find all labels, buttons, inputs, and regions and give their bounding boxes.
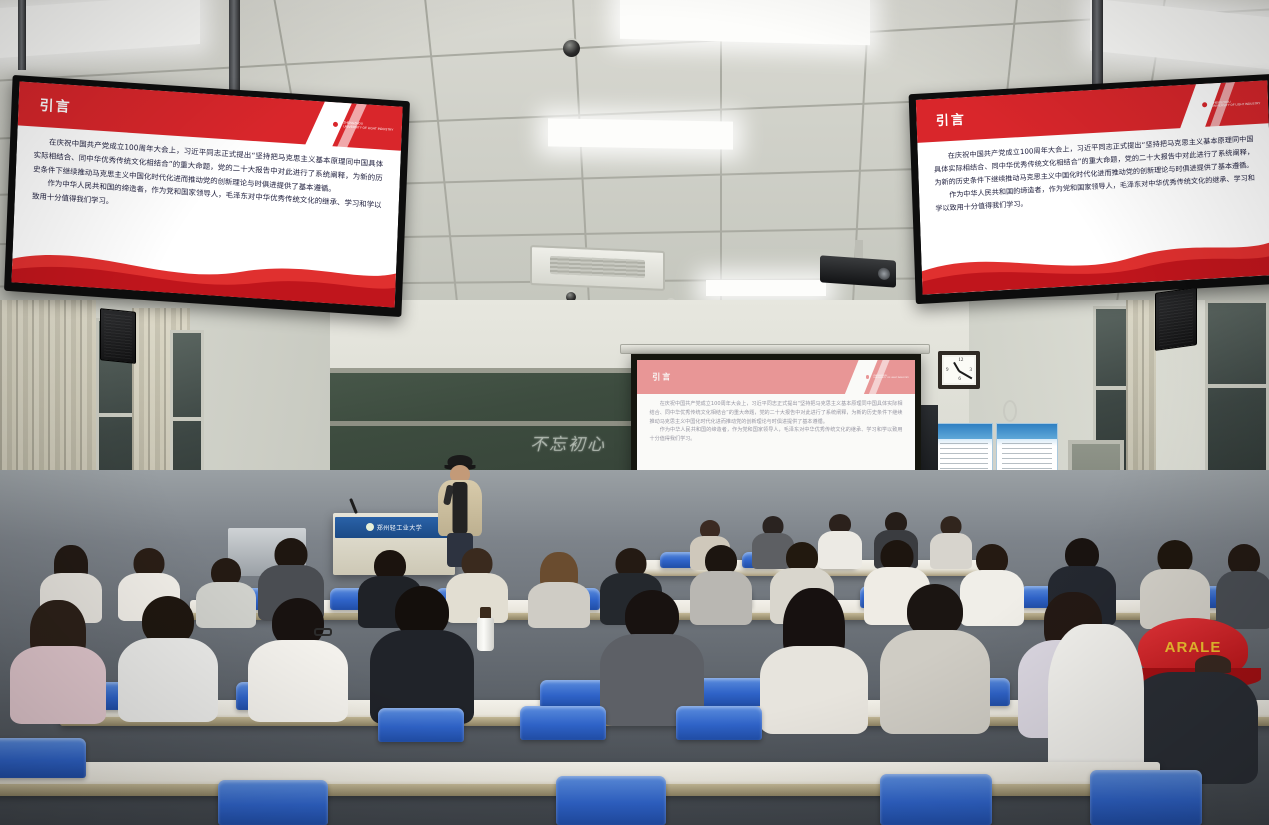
audience-member bbox=[880, 584, 990, 730]
slide-paragraph-1: 在庆祝中国共产党成立100周年大会上，习近平同志正式提出“坚持把马克思主义基本原… bbox=[650, 400, 903, 427]
right-display-panel: 引言 ZHENGZHOU UNIVERSITY OF LIGHT INDUSTR… bbox=[916, 80, 1269, 295]
ceiling-light-panel bbox=[620, 0, 870, 45]
notice-header bbox=[936, 424, 992, 439]
audience-member bbox=[10, 600, 106, 716]
presenter-inner-shirt bbox=[453, 482, 468, 534]
logo-mark-icon bbox=[331, 120, 340, 130]
dome-security-camera bbox=[563, 40, 580, 57]
slide-title: 引言 bbox=[936, 109, 967, 130]
slide-wave-decoration bbox=[921, 224, 1269, 294]
lecture-chair[interactable] bbox=[1090, 770, 1202, 825]
audience-member bbox=[370, 586, 474, 720]
audience-member bbox=[760, 588, 868, 728]
left-slide: 引言 ZHENGZHOU UNIVERSITY OF LIGHT INDUSTR… bbox=[11, 81, 402, 307]
left-wall-display[interactable]: 引言 ZHENGZHOU UNIVERSITY OF LIGHT INDUSTR… bbox=[4, 75, 410, 317]
bottle-cap bbox=[480, 607, 491, 617]
podium-nameplate: 郑州轻工业大学 bbox=[335, 517, 452, 538]
display-mount-pole bbox=[1092, 0, 1103, 90]
notice-header bbox=[997, 424, 1057, 439]
person-torso bbox=[248, 640, 348, 722]
person-torso bbox=[118, 638, 218, 722]
blackboard-chalk-text: 不忘初心 bbox=[530, 430, 606, 455]
logo-line-2: UNIVERSITY OF LIGHT INDUSTRY bbox=[873, 377, 909, 379]
slide-body: 在庆祝中国共产党成立100周年大会上，习近平同志正式提出“坚持把马克思主义基本原… bbox=[933, 132, 1255, 215]
cap-back-gap bbox=[1195, 655, 1231, 673]
university-logo: ZHENGZHOU UNIVERSITY OF LIGHT INDUSTRY bbox=[1200, 98, 1261, 110]
slide-paragraph-2: 作为中华人民共和国的缔造者，作为党和国家领导人，毛泽东对中华优秀传统文化的继承、… bbox=[650, 426, 903, 444]
audience-member-red-cap: ARALE bbox=[1128, 600, 1258, 780]
ceiling-projector bbox=[820, 255, 896, 287]
lecture-chair[interactable] bbox=[0, 738, 86, 778]
logo-line-2: UNIVERSITY OF LIGHT INDUSTRY bbox=[1212, 102, 1261, 108]
logo-mark-icon bbox=[864, 374, 870, 380]
projection-screen-case bbox=[620, 344, 930, 354]
logo-mark-icon bbox=[1200, 100, 1209, 109]
audience-member bbox=[1048, 614, 1144, 782]
slide-title: 引言 bbox=[652, 371, 672, 382]
lecture-chair[interactable] bbox=[880, 774, 992, 825]
wall-hook bbox=[1003, 400, 1017, 422]
lecture-chair[interactable] bbox=[556, 776, 666, 825]
wall-clock: 12 3 6 9 bbox=[938, 351, 980, 389]
person-torso bbox=[880, 630, 990, 734]
university-logo: ZHENGZHOU UNIVERSITY OF LIGHT INDUSTRY bbox=[864, 374, 909, 380]
person-torso bbox=[760, 646, 868, 734]
lecture-chair[interactable] bbox=[676, 706, 762, 740]
right-slide: 引言 ZHENGZHOU UNIVERSITY OF LIGHT INDUSTR… bbox=[916, 80, 1269, 295]
audience-member bbox=[248, 598, 348, 718]
podium-nameplate-text: 郑州轻工业大学 bbox=[377, 523, 423, 532]
slide-body: 在庆祝中国共产党成立100周年大会上，习近平同志正式提出“坚持把马克思主义基本原… bbox=[650, 400, 903, 445]
display-mount-pole bbox=[229, 0, 240, 96]
lecture-chair[interactable] bbox=[520, 706, 606, 740]
university-logo: ZHENGZHOU UNIVERSITY OF LIGHT INDUSTRY bbox=[331, 120, 393, 133]
audience-member bbox=[118, 596, 218, 718]
university-emblem-icon bbox=[366, 523, 374, 531]
red-baseball-cap: ARALE bbox=[1138, 618, 1248, 680]
projector-lens bbox=[878, 267, 890, 280]
lecture-chair[interactable] bbox=[378, 708, 464, 742]
person-torso bbox=[1048, 624, 1144, 784]
audience-member bbox=[600, 590, 704, 722]
eyeglasses-icon bbox=[314, 628, 332, 636]
audience-member bbox=[528, 552, 590, 622]
display-mount-pole bbox=[18, 0, 26, 70]
lecture-hall-scene: 不忘初心 12 3 6 9 bbox=[0, 0, 1269, 825]
water-bottle[interactable] bbox=[477, 617, 494, 651]
person-torso bbox=[10, 646, 106, 724]
left-display-panel: 引言 ZHENGZHOU UNIVERSITY OF LIGHT INDUSTR… bbox=[11, 81, 402, 307]
logo-text: ZHENGZHOU UNIVERSITY OF LIGHT INDUSTRY bbox=[873, 375, 909, 380]
ceiling-light-panel bbox=[0, 0, 200, 60]
cap-brand-text: ARALE bbox=[1138, 639, 1248, 656]
right-wall-display[interactable]: 引言 ZHENGZHOU UNIVERSITY OF LIGHT INDUSTR… bbox=[909, 74, 1269, 304]
ceiling-cassette-air-conditioner bbox=[530, 245, 665, 291]
slide-title: 引言 bbox=[39, 95, 72, 117]
slide-header-bar: 引言 ZHENGZHOU UNIVERSITY OF LIGHT INDUSTR… bbox=[637, 360, 915, 394]
lecture-chair[interactable] bbox=[218, 780, 328, 825]
clock-face: 12 3 6 9 bbox=[944, 357, 974, 383]
logo-text: ZHENGZHOU UNIVERSITY OF LIGHT INDUSTRY bbox=[1212, 99, 1261, 108]
wall-speaker bbox=[1155, 287, 1197, 351]
person-torso bbox=[528, 582, 590, 628]
ceiling-light-panel bbox=[706, 280, 826, 296]
lecture-chair[interactable] bbox=[696, 678, 766, 706]
wall-speaker bbox=[100, 308, 136, 364]
ceiling-light-panel bbox=[548, 118, 733, 149]
